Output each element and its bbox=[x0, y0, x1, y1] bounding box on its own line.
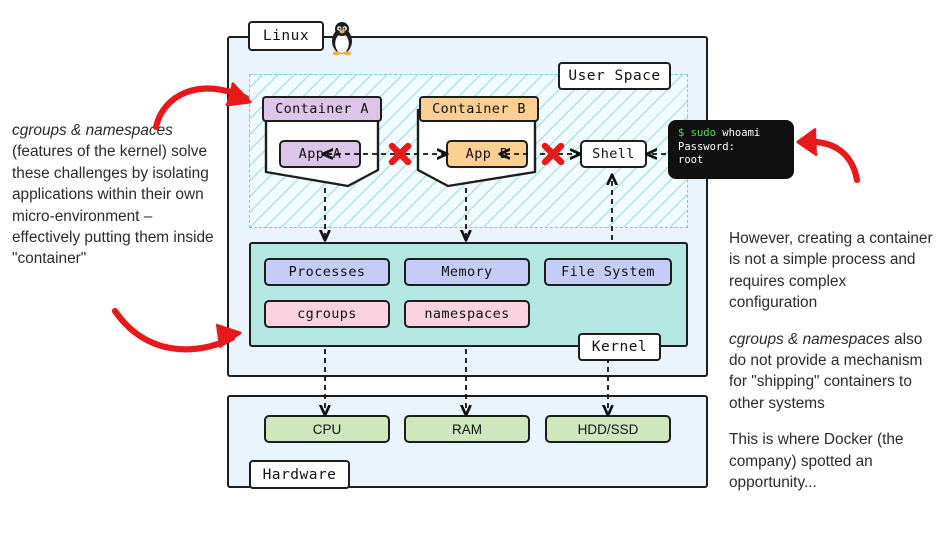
app-b-node[interactable]: App B bbox=[446, 140, 528, 168]
terminal-line-1: $ sudo whoami bbox=[678, 127, 785, 141]
container-b-label[interactable]: Container B bbox=[419, 96, 539, 122]
hardware-ram-label: RAM bbox=[452, 422, 482, 437]
kernel-processes-node[interactable]: Processes bbox=[264, 258, 390, 286]
hardware-hdd-node[interactable]: HDD/SSD bbox=[545, 415, 671, 443]
red-arrow-right bbox=[798, 129, 857, 180]
annotation-right-p2: cgroups & namespaces also do not provide… bbox=[729, 329, 934, 415]
annotation-left-italic-lead: cgroups & namespaces bbox=[12, 122, 173, 139]
app-a-label: App A bbox=[299, 146, 342, 162]
tag-hardware-label: Hardware bbox=[263, 467, 337, 483]
annotation-right-p1: However, creating a container is not a s… bbox=[729, 228, 934, 314]
kernel-filesystem-node[interactable]: File System bbox=[544, 258, 672, 286]
terminal-line-2: Password: bbox=[678, 141, 785, 155]
app-b-label: App B bbox=[466, 146, 509, 162]
annotation-right-italic-lead: cgroups & namespaces bbox=[729, 331, 890, 348]
terminal-line-3: root bbox=[678, 154, 785, 168]
diagram-canvas: Container A App A Container B App B Shel… bbox=[0, 0, 937, 551]
hardware-hdd-label: HDD/SSD bbox=[578, 422, 639, 437]
kernel-cgroups-node[interactable]: cgroups bbox=[264, 300, 390, 328]
annotation-right-p3: This is where Docker (the company) spott… bbox=[729, 429, 934, 493]
tag-linux-label: Linux bbox=[263, 28, 309, 44]
kernel-namespaces-node[interactable]: namespaces bbox=[404, 300, 530, 328]
tag-user-space-label: User Space bbox=[568, 68, 660, 84]
terminal-prompt: $ bbox=[678, 127, 684, 139]
kernel-cgroups-label: cgroups bbox=[297, 306, 357, 322]
kernel-memory-label: Memory bbox=[441, 264, 492, 280]
hardware-cpu-node[interactable]: CPU bbox=[264, 415, 390, 443]
annotation-right: However, creating a container is not a s… bbox=[729, 228, 934, 493]
shell-label: Shell bbox=[592, 146, 635, 162]
tag-kernel-label: Kernel bbox=[592, 339, 647, 355]
shell-node[interactable]: Shell bbox=[580, 140, 647, 168]
tag-user-space[interactable]: User Space bbox=[558, 62, 671, 90]
kernel-processes-label: Processes bbox=[289, 264, 366, 280]
container-b-label-text: Container B bbox=[432, 101, 526, 117]
terminal-command: sudo bbox=[691, 127, 716, 139]
red-arrow-bottom-left bbox=[115, 311, 240, 349]
tux-penguin-icon bbox=[327, 20, 357, 56]
hardware-cpu-label: CPU bbox=[313, 422, 342, 437]
container-a-label[interactable]: Container A bbox=[262, 96, 382, 122]
hardware-ram-node[interactable]: RAM bbox=[404, 415, 530, 443]
kernel-namespaces-label: namespaces bbox=[424, 306, 509, 322]
terminal-argument: whoami bbox=[722, 127, 760, 139]
tag-linux[interactable]: Linux bbox=[248, 21, 324, 51]
annotation-left-body: (features of the kernel) solve these cha… bbox=[12, 143, 214, 267]
app-a-node[interactable]: App A bbox=[279, 140, 361, 168]
kernel-memory-node[interactable]: Memory bbox=[404, 258, 530, 286]
annotation-left-paragraph: cgroups & namespaces (features of the ke… bbox=[12, 120, 220, 270]
annotation-left: cgroups & namespaces (features of the ke… bbox=[12, 120, 220, 270]
terminal-window[interactable]: $ sudo whoami Password: root bbox=[668, 120, 794, 179]
tag-hardware[interactable]: Hardware bbox=[249, 460, 350, 489]
tag-kernel[interactable]: Kernel bbox=[578, 333, 661, 361]
kernel-filesystem-label: File System bbox=[561, 264, 655, 280]
container-a-label-text: Container A bbox=[275, 101, 369, 117]
